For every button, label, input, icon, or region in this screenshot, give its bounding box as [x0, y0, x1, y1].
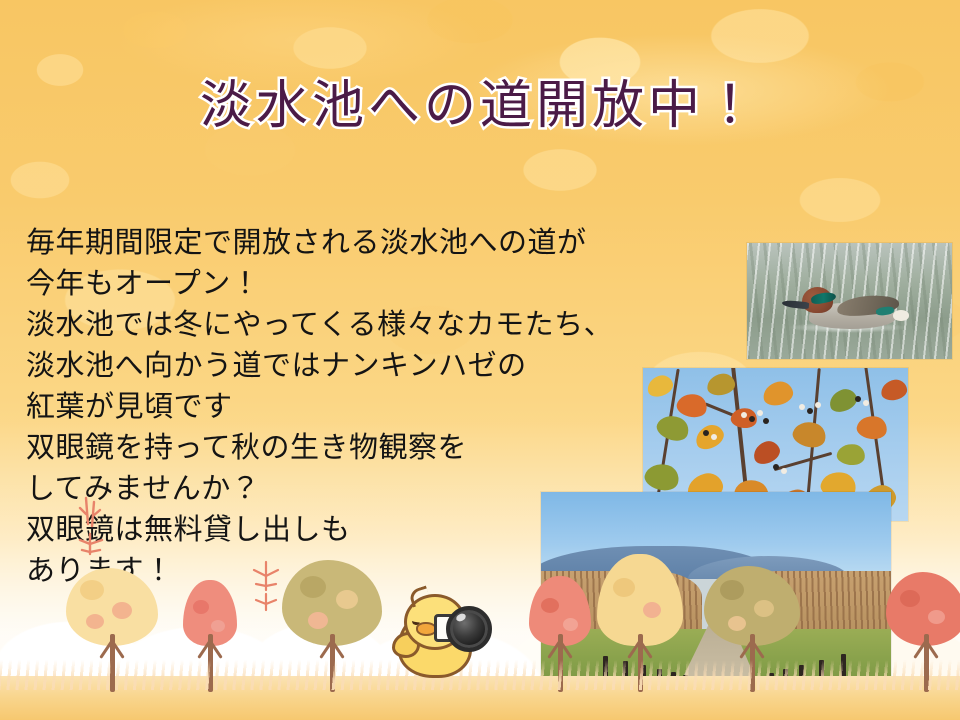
page-title: 淡水池への道開放中！: [0, 76, 960, 137]
body-line: 双眼鏡を持って秋の生き物観察を: [26, 427, 726, 468]
camera-lens: [446, 606, 492, 652]
body-line: 毎年期間限定で開放される淡水池への道が: [26, 222, 726, 263]
poster-canvas: 淡水池への道開放中！ 毎年期間限定で開放される淡水池への道が 今年もオープン！ …: [0, 0, 960, 720]
body-line: 淡水池へ向かう道ではナンキンハゼの: [26, 345, 726, 386]
chick-mascot: [390, 592, 490, 682]
body-line: 今年もオープン！: [26, 263, 726, 304]
body-line: 紅葉が見頃です: [26, 386, 726, 427]
duck-photo: [747, 243, 952, 359]
duck-tail-patch: [893, 310, 909, 320]
tree-canopy: [886, 572, 960, 646]
duck-scene: [747, 243, 952, 359]
sprig-doodle: [74, 494, 118, 558]
body-line: 淡水池では冬にやってくる様々なカモたち、: [26, 304, 726, 345]
tree-canopy: [597, 554, 683, 646]
sprig-doodle: [246, 560, 286, 612]
